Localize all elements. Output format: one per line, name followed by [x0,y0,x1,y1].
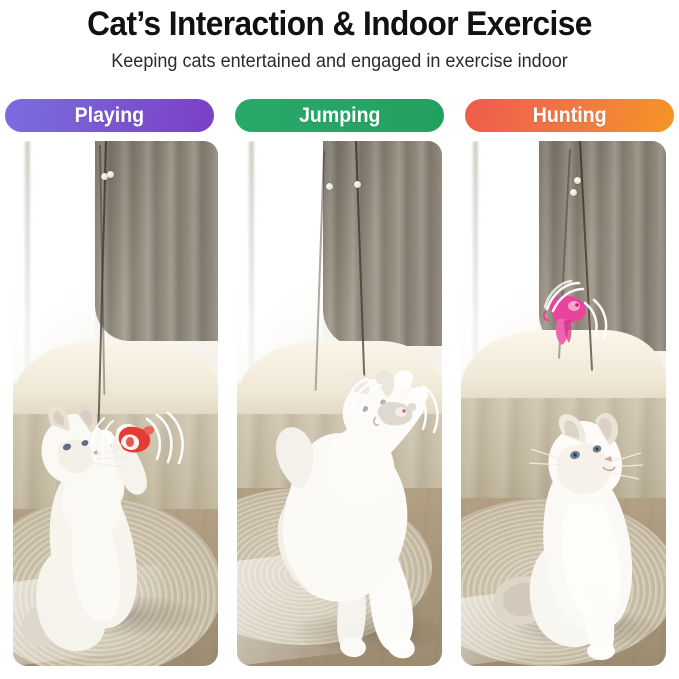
curtain [323,141,442,346]
curtain-shading [95,141,218,341]
wand-bead-lower [570,189,577,196]
wall-edge [25,141,30,372]
photo-panel-hunting [461,141,666,666]
curtain-shading [323,141,442,346]
photo-panel-playing [13,141,218,666]
badge-hunting-label: Hunting [533,99,607,132]
page-subtitle: Keeping cats entertained and engaged in … [17,49,662,75]
motion-arcs-hunting-left [545,281,585,317]
photo-panel-row [0,141,679,666]
motion-arcs-playing-left [85,417,119,463]
wand-bead-lower [107,171,114,178]
motion-arcs-hunting-right [583,299,613,339]
motion-arcs-jumping-right [409,385,442,433]
category-badge-row: Playing Jumping Hunting [0,99,679,133]
scene-jumping [237,141,442,666]
wand-bead-lower [354,181,361,188]
header: Cat’s Interaction & Indoor Exercise Keep… [0,0,679,75]
scene-playing [13,141,218,666]
wand-bead-upper [326,183,333,190]
wall-edge [473,141,478,372]
cat-hunting [491,415,666,666]
curtain [95,141,218,341]
motion-arcs-jumping-left [345,379,385,419]
badge-jumping-label: Jumping [299,99,380,132]
infographic-page: Cat’s Interaction & Indoor Exercise Keep… [0,0,679,679]
badge-jumping: Jumping [235,99,444,132]
badge-playing: Playing [5,99,214,132]
badge-playing-label: Playing [75,99,144,132]
wall-edge [249,141,254,372]
badge-hunting: Hunting [465,99,674,132]
scene-hunting [461,141,666,666]
wand-bead-upper [574,177,581,184]
photo-panel-jumping [237,141,442,666]
motion-arcs-playing [141,413,187,465]
page-title: Cat’s Interaction & Indoor Exercise [24,4,655,44]
